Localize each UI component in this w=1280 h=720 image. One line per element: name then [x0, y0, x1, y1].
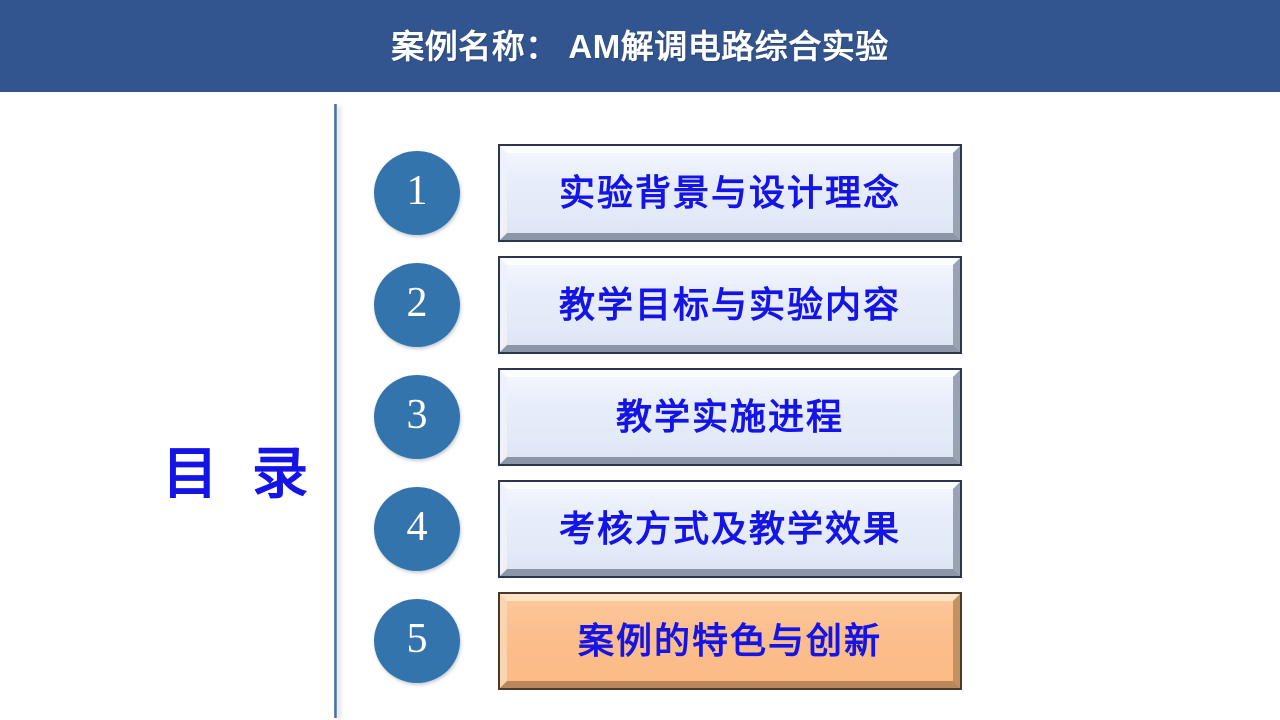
toc-number-bullet: 1 [374, 151, 460, 235]
slide-body: 目 录 1 实验背景与设计理念 2 教学目标与实验内容 3 教学实施进程 [0, 92, 1280, 720]
toc-item-box-highlighted[interactable]: 案例的特色与创新 [498, 592, 962, 690]
toc-number-bullet: 2 [374, 263, 460, 347]
toc-number-bullet: 3 [374, 375, 460, 459]
toc-item-box[interactable]: 教学实施进程 [498, 368, 962, 466]
toc-number-label: 3 [407, 394, 428, 436]
toc-number-label: 1 [407, 170, 428, 212]
toc-item-label: 教学目标与实验内容 [559, 287, 901, 323]
page-title: 案例名称： AM解调电路综合实验 [391, 30, 889, 63]
toc-number-bullet: 4 [374, 487, 460, 571]
toc-row[interactable]: 4 考核方式及教学效果 [0, 480, 1280, 578]
toc-item-label: 考核方式及教学效果 [559, 511, 901, 547]
toc-row[interactable]: 5 案例的特色与创新 [0, 592, 1280, 690]
toc-item-label: 教学实施进程 [616, 399, 844, 435]
toc-row[interactable]: 1 实验背景与设计理念 [0, 144, 1280, 242]
toc-number-label: 4 [407, 506, 428, 548]
toc-item-box[interactable]: 考核方式及教学效果 [498, 480, 962, 578]
toc-number-label: 2 [407, 282, 428, 324]
slide-header-band: 案例名称： AM解调电路综合实验 [0, 0, 1280, 92]
toc-row[interactable]: 2 教学目标与实验内容 [0, 256, 1280, 354]
toc-item-box[interactable]: 教学目标与实验内容 [498, 256, 962, 354]
toc-item-box[interactable]: 实验背景与设计理念 [498, 144, 962, 242]
toc-item-label: 实验背景与设计理念 [559, 175, 901, 211]
toc-number-bullet: 5 [374, 599, 460, 683]
toc-row[interactable]: 3 教学实施进程 [0, 368, 1280, 466]
toc-item-label: 案例的特色与创新 [578, 623, 882, 659]
toc-number-label: 5 [407, 618, 428, 660]
